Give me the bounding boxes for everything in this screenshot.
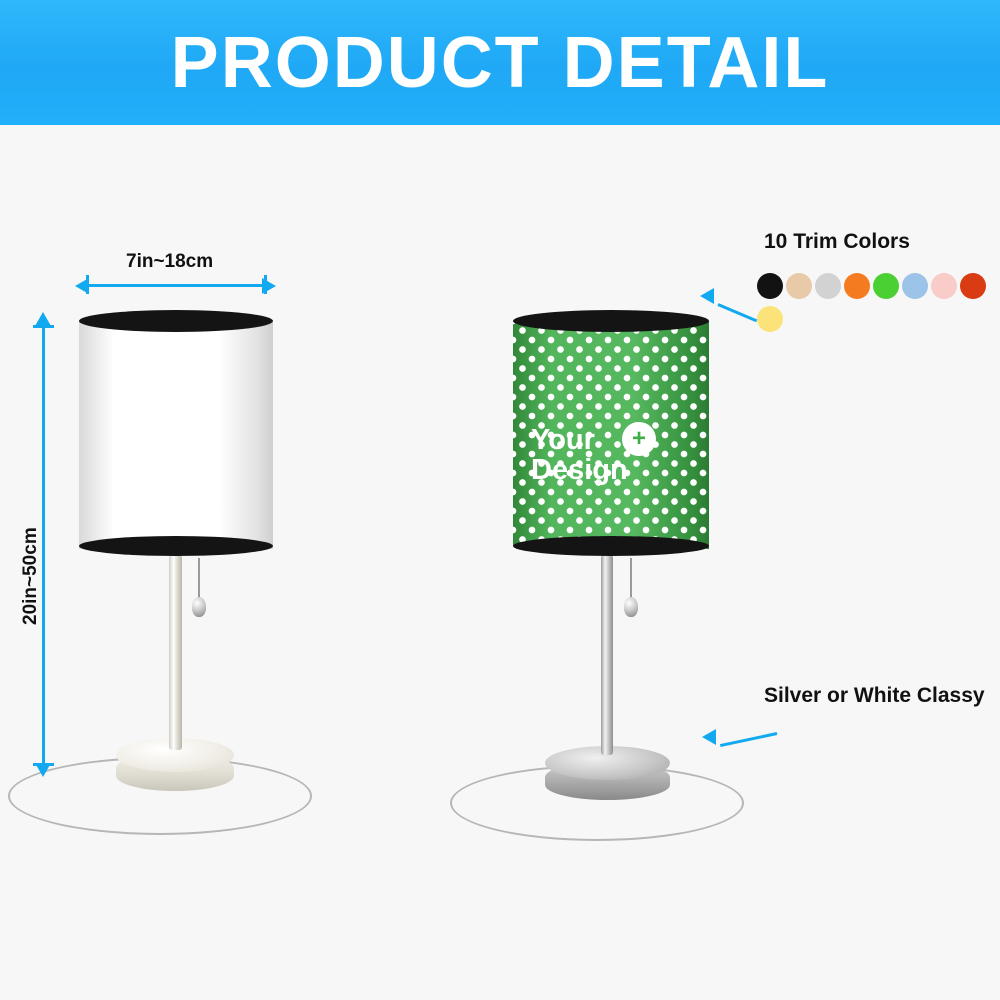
design-text-line2: Design — [531, 455, 691, 485]
lamp-shade-trim-bottom-left — [79, 536, 273, 556]
width-label: 7in~18cm — [126, 251, 213, 273]
base-material-label: Silver or White Classy — [764, 684, 985, 708]
lamp-pole-right — [601, 555, 613, 755]
trim-callout-arrow — [717, 303, 757, 322]
page-title: PRODUCT DETAIL — [171, 27, 830, 99]
pull-cord-knob-right — [624, 597, 638, 617]
trim-swatch-grey[interactable] — [815, 273, 841, 299]
trim-swatch-yellow[interactable] — [757, 306, 783, 332]
height-label: 20in~50cm — [20, 527, 42, 625]
trim-swatch-pink[interactable] — [931, 273, 957, 299]
lamp-shade-trim-top-left — [79, 310, 273, 332]
lamp-shade-trim-bottom-right — [513, 536, 709, 556]
lamp-shade-left — [79, 310, 273, 560]
lamp-shade-right: Your Design + — [513, 310, 709, 560]
design-badge: + — [622, 422, 656, 456]
trim-callout-arrowhead — [700, 288, 714, 304]
trim-swatch-black[interactable] — [757, 273, 783, 299]
lamp-shade-trim-top-right — [513, 310, 709, 332]
trim-swatch-tan[interactable] — [786, 273, 812, 299]
design-text-line1: Your — [531, 425, 691, 455]
design-text-block: Your Design — [531, 425, 691, 486]
base-callout-arrowhead — [702, 729, 716, 745]
product-stage: 7in~18cm 20in~50cm Your Design + — [0, 125, 1000, 1000]
design-badge-label: + — [632, 427, 646, 451]
trim-colors-label: 10 Trim Colors — [764, 230, 910, 254]
pull-cord-left — [198, 558, 200, 600]
pull-cord-right — [630, 558, 632, 600]
lamp-shade-body-left — [79, 321, 273, 549]
trim-swatch-green[interactable] — [873, 273, 899, 299]
trim-swatch-orange[interactable] — [844, 273, 870, 299]
lamp-pole-left — [169, 555, 182, 750]
pull-cord-knob-left — [192, 597, 206, 617]
header-banner: PRODUCT DETAIL — [0, 0, 1000, 125]
trim-swatch-light-blue[interactable] — [902, 273, 928, 299]
base-callout-arrow — [720, 732, 777, 747]
trim-swatch-red[interactable] — [960, 273, 986, 299]
